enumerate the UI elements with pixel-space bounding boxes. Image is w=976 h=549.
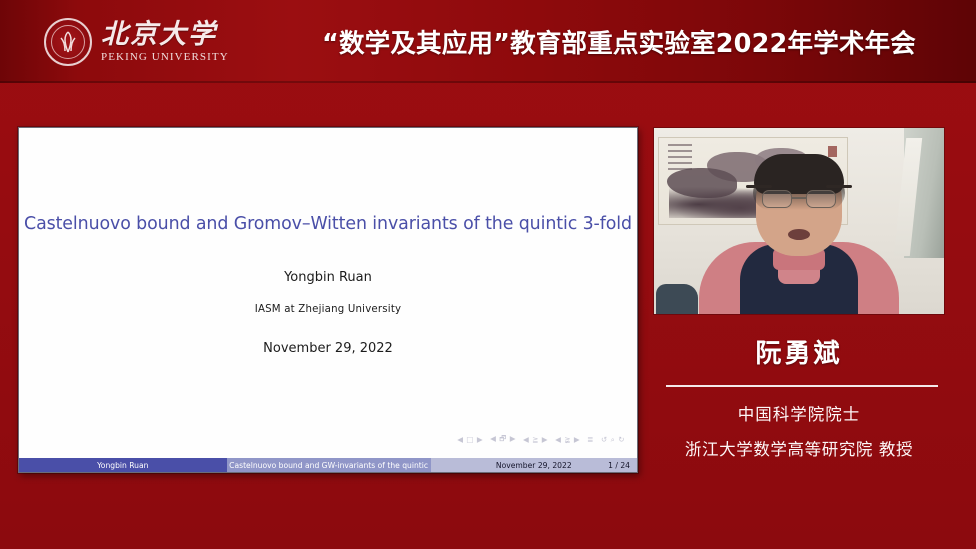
slide-date: November 29, 2022 [19, 341, 637, 356]
slide-viewer[interactable]: Castelnuovo bound and Gromov–Witten inva… [18, 127, 638, 473]
speaker-name: 阮勇斌 [654, 333, 944, 370]
presentation-stage: 北京大学 PEKING UNIVERSITY “数学及其应用”教育部重点实验室2… [0, 0, 976, 549]
painting-red-seal [828, 146, 837, 157]
event-title: “数学及其应用”教育部重点实验室2022年学术年会 [322, 0, 970, 83]
footer-page-number: 1 / 24 [608, 461, 630, 470]
glasses-lens-left [762, 190, 792, 208]
nav-symbol-back-search-forward[interactable]: ↺ ⌕ ↻ [601, 435, 625, 445]
glasses-lens-right [806, 190, 836, 208]
peking-university-logo: 北京大学 PEKING UNIVERSITY [44, 18, 229, 66]
speaker-webcam-video[interactable] [654, 128, 944, 314]
glasses-bridge [792, 197, 806, 199]
footer-short-title: Castelnuovo bound and GW-invariants of t… [227, 458, 431, 472]
speaker-eyebrow [746, 185, 772, 188]
footer-author: Yongbin Ruan [19, 458, 227, 472]
nav-symbol-frame[interactable]: ◀ □ ▶ [457, 435, 483, 444]
beamer-navigation-symbols[interactable]: ◀ □ ▶ ◀ 🗗 ▶ ◀ ≧ ▶ ◀ ≩ ▶ ≣ ↺ ⌕ ↻ [457, 433, 625, 446]
logo-english-name: PEKING UNIVERSITY [101, 51, 229, 64]
nav-symbol-presentation[interactable]: ◀ ≩ ▶ [555, 435, 580, 444]
speaker-title-line-1: 中国科学院院士 [654, 401, 944, 425]
logo-chinese-name: 北京大学 [101, 20, 229, 50]
speaker-mouth [788, 229, 810, 240]
speaker-hair [754, 154, 844, 194]
chair [656, 284, 698, 314]
peking-university-seal-icon [44, 18, 92, 66]
speaker-eyebrow [826, 185, 852, 188]
footer-date: November 29, 2022 [496, 461, 572, 470]
slide-title: Castelnuovo bound and Gromov–Witten inva… [19, 214, 637, 234]
slide-affiliation: IASM at Zhejiang University [19, 304, 637, 315]
slide-author: Yongbin Ruan [19, 270, 637, 285]
seal-emblem-icon [55, 29, 81, 55]
nav-symbol-section[interactable]: ◀ ≧ ▶ [523, 435, 548, 444]
event-header-banner: 北京大学 PEKING UNIVERSITY “数学及其应用”教育部重点实验室2… [0, 0, 976, 83]
painting-calligraphy [668, 144, 692, 170]
footer-date-page: November 29, 2022 1 / 24 [431, 458, 637, 472]
nav-symbol-subsection[interactable]: ◀ 🗗 ▶ [490, 433, 516, 446]
slide-content: Castelnuovo bound and Gromov–Witten inva… [19, 128, 637, 472]
speaker-divider [666, 385, 938, 387]
slide-footer-bar: Yongbin Ruan Castelnuovo bound and GW-in… [19, 458, 637, 472]
speaker-figure [694, 164, 904, 314]
speaker-title-line-2: 浙江大学数学高等研究院 教授 [654, 436, 944, 460]
nav-symbol-appendix[interactable]: ≣ [587, 435, 594, 444]
speaker-glasses [762, 190, 836, 210]
